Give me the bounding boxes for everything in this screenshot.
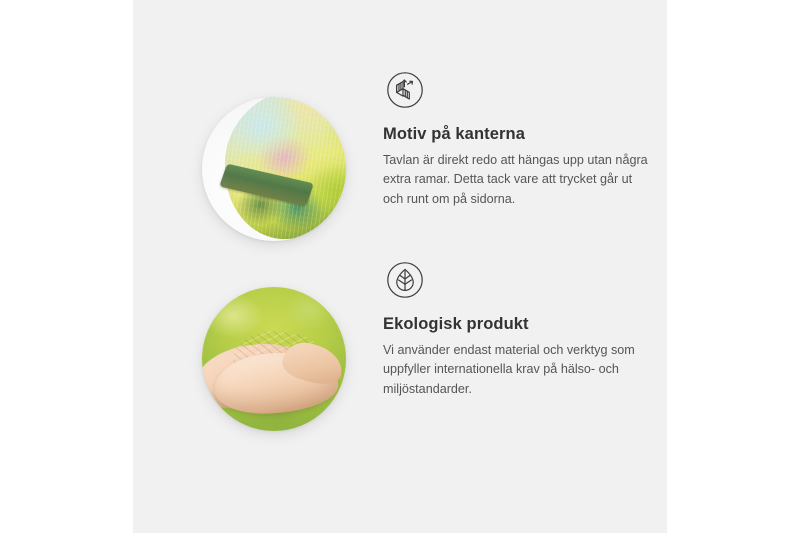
feature-title: Ekologisk produkt: [383, 314, 663, 335]
feature-block-ekologisk-produkt: Ekologisk produkt Vi använder endast mat…: [133, 258, 667, 458]
feature-block-motiv-pa-kanterna: Motiv på kanterna Tavlan är direkt redo …: [133, 68, 667, 268]
canvas-print-corner-photo: [202, 97, 346, 241]
hands-with-wood-chips-image: [202, 287, 346, 431]
canvas-print-corner-image: [202, 97, 346, 241]
content-panel: Motiv på kanterna Tavlan är direkt redo …: [133, 0, 667, 533]
feature-text-column-1: Motiv på kanterna Tavlan är direkt redo …: [383, 68, 663, 209]
feature-description: Tavlan är direkt redo att hängas upp uta…: [383, 151, 651, 210]
leaf-icon: [383, 258, 427, 302]
feature-text-column-2: Ekologisk produkt Vi använder endast mat…: [383, 258, 663, 399]
hands-with-wood-chips-photo: [202, 287, 346, 431]
wrapped-canvas-edge-icon: [383, 68, 427, 112]
product-feature-banner: Motiv på kanterna Tavlan är direkt redo …: [0, 0, 800, 533]
feature-description: Vi använder endast material och verktyg …: [383, 341, 651, 400]
feature-title: Motiv på kanterna: [383, 124, 663, 145]
